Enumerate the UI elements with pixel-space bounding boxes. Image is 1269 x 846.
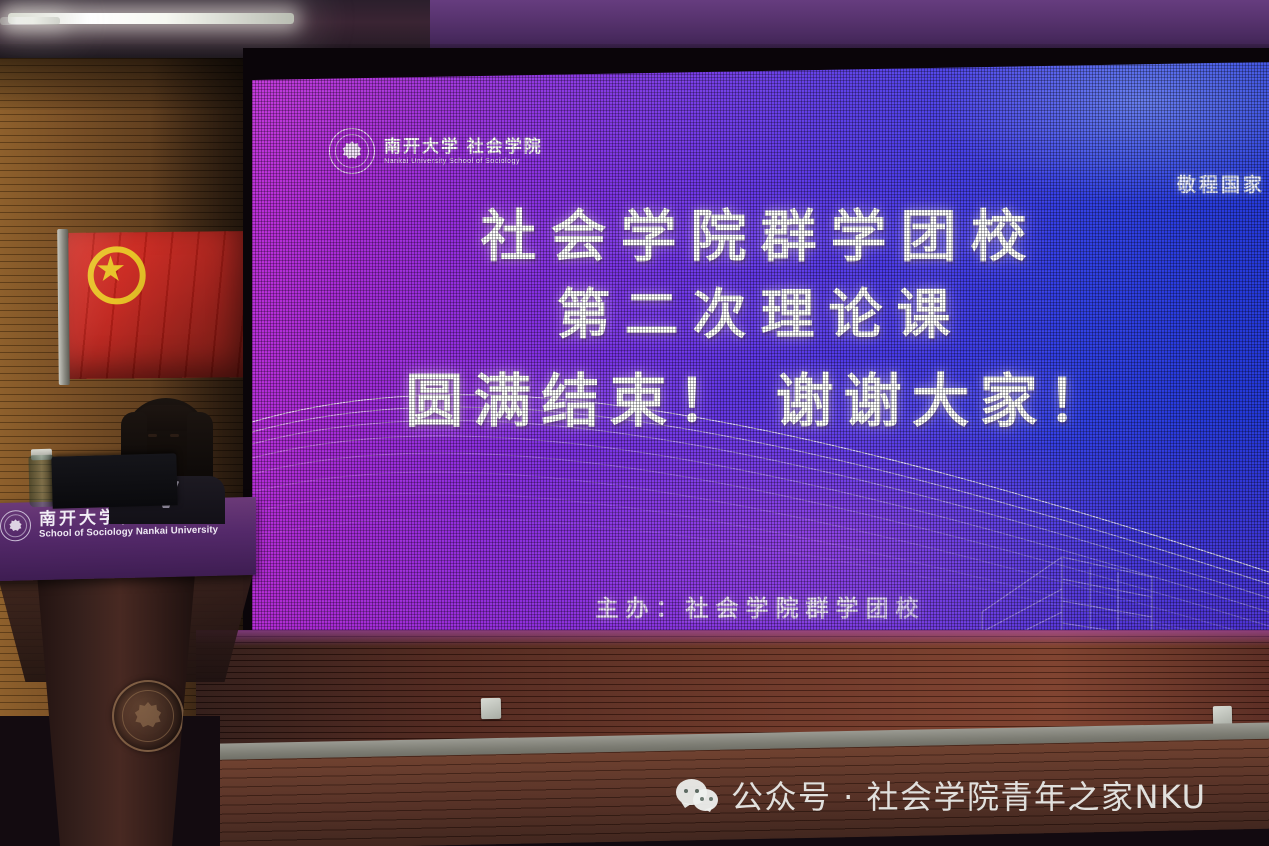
led-screen: 南开大学 社会学院 Nankai University School of So… bbox=[252, 62, 1269, 640]
wall-switch-plate-icon bbox=[481, 698, 501, 719]
title-line-3: 圆满结束！ 谢谢大家！ bbox=[252, 355, 1269, 448]
screen-logo-cn-text: 南开大学 社会学院 bbox=[384, 138, 543, 155]
screen-host-line: 主办：社会学院群学团校 bbox=[252, 589, 1269, 623]
communist-youth-league-flag bbox=[57, 227, 259, 384]
screen-title-block: 社会学院群学团校 第二次理论课 圆满结束！ 谢谢大家！ bbox=[252, 202, 1269, 447]
wechat-icon bbox=[676, 779, 718, 812]
screen-brand-logo: 南开大学 社会学院 Nankai University School of So… bbox=[329, 128, 543, 174]
seal-inner-emblem-icon bbox=[342, 141, 362, 161]
screen-logo-en-text: Nankai University School of Sociology bbox=[384, 157, 543, 164]
podium-body bbox=[16, 562, 216, 846]
wechat-dot-2 bbox=[695, 789, 699, 793]
podium-seal-emblem-icon bbox=[134, 702, 162, 730]
title-line-2: 第二次理论课 bbox=[252, 274, 1269, 355]
flag-pole bbox=[57, 229, 70, 385]
laptop-icon bbox=[51, 453, 177, 508]
screen-corner-text: 敬程国家 bbox=[1177, 170, 1265, 197]
podium-sign-seal-emblem-icon bbox=[9, 519, 22, 532]
wechat-dot-3 bbox=[700, 797, 704, 801]
wechat-dot-1 bbox=[684, 789, 688, 793]
podium-university-seal-icon bbox=[112, 680, 184, 752]
podium-sign-seal-icon bbox=[0, 510, 31, 542]
watermark: 公众号 · 社会学院青年之家NKU bbox=[676, 772, 1207, 818]
screenshot-root: 南开大学 社会学院 Nankai University School of So… bbox=[0, 0, 1269, 846]
linear-ceiling-light-secondary-icon bbox=[0, 17, 60, 25]
presenter-eye-left bbox=[148, 434, 157, 437]
wechat-dot-4 bbox=[709, 797, 713, 801]
nankai-university-seal-icon bbox=[329, 128, 375, 174]
wall-screen-glow bbox=[196, 630, 1269, 646]
podium: 南开大学社会学院 School of Sociology Nankai Univ… bbox=[0, 500, 262, 846]
title-line-1: 社会学院群学团校 bbox=[252, 202, 1269, 274]
flag-shading bbox=[67, 231, 255, 379]
watermark-text: 公众号 · 社会学院青年之家NKU bbox=[731, 772, 1207, 818]
presenter-eye-right bbox=[170, 434, 179, 437]
